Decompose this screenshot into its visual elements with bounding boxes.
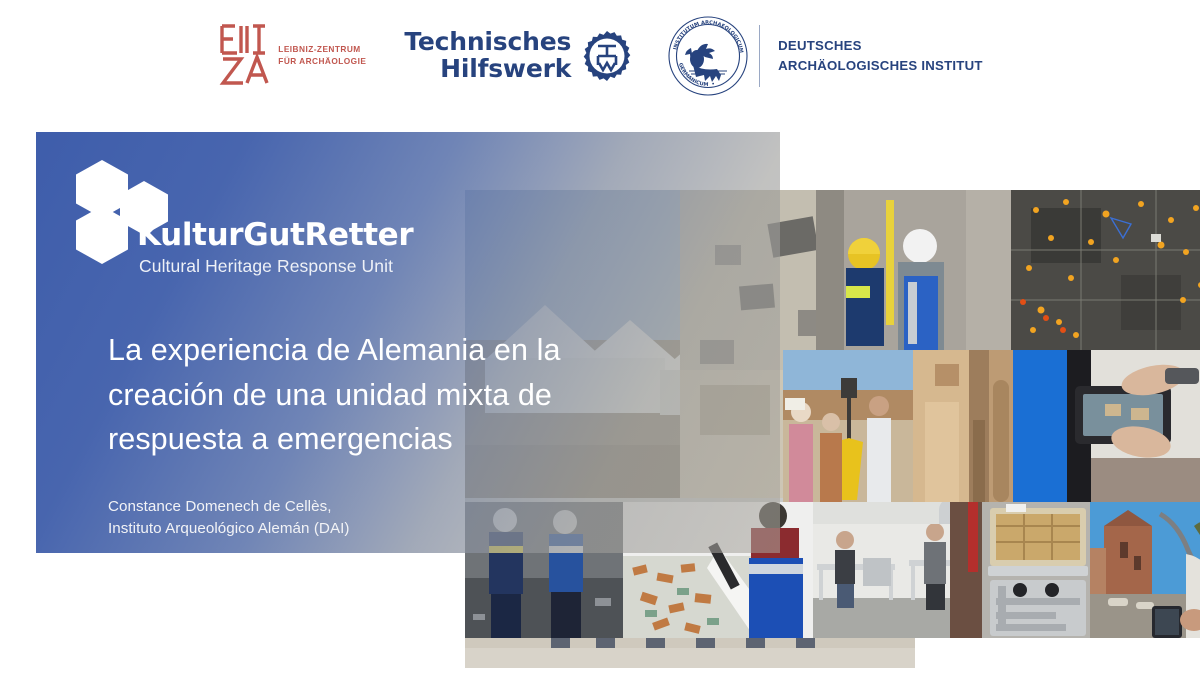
partner-logo-bar: LEIBNIZ-ZENTRUM FÜR ARCHÄOLOGIE Technisc… (0, 0, 1200, 112)
slide-byline: Constance Domenech de Cellès, Instituto … (108, 496, 780, 540)
photo-aerial-rubble-mapping (1011, 190, 1200, 350)
thw-gear-icon (581, 30, 633, 82)
thw-wordmark: Technisches Hilfswerk (404, 29, 571, 83)
dai-line-1: DEUTSCHES (778, 36, 983, 56)
photo-damaged-church-survey (1090, 502, 1200, 638)
leiza-wordmark: LEIBNIZ-ZENTRUM FÜR ARCHÄOLOGIE (278, 44, 366, 68)
dai-line-2: ARCHÄOLOGISCHES INSTITUT (778, 56, 983, 76)
byline-author: Constance Domenech de Cellès, (108, 496, 780, 518)
kulturgutretter-logo: KulturGutRetter Cultural Heritage Respon… (72, 160, 412, 288)
dai-wordmark: DEUTSCHES ARCHÄOLOGISCHES INSTITUT (778, 36, 983, 76)
photo-transport-case-open (950, 502, 1095, 638)
leiza-line-2: FÜR ARCHÄOLOGIE (278, 56, 366, 68)
thw-line-1: Technisches (404, 29, 571, 56)
photo-thw-helmet-wall-survey (816, 190, 1011, 350)
photo-tablet-field-recording (1013, 350, 1200, 502)
thw-line-2: Hilfswerk (404, 56, 571, 83)
photo-mudbrick-architecture (913, 350, 1013, 502)
slide-title: La experiencia de Alemania en la creació… (108, 328, 678, 462)
dai-logo: INSTITUTUM ARCHAEOLOGICUM GERMANICUM • D… (667, 15, 983, 97)
leiza-logo: LEIBNIZ-ZENTRUM FÜR ARCHÄOLOGIE (217, 23, 366, 89)
dai-divider (759, 25, 760, 87)
brand-tagline: Cultural Heritage Response Unit (139, 256, 393, 277)
dai-seal-icon: INSTITUTUM ARCHAEOLOGICUM GERMANICUM • (667, 15, 749, 97)
leiza-monogram-icon (217, 23, 269, 89)
brand-name: KulturGutRetter (137, 217, 413, 253)
title-panel: KulturGutRetter Cultural Heritage Respon… (36, 132, 780, 553)
photo-total-station-training (783, 350, 913, 502)
leiza-line-1: LEIBNIZ-ZENTRUM (278, 44, 366, 56)
thw-logo: Technisches Hilfswerk (404, 29, 633, 83)
byline-affiliation: Instituto Arqueológico Alemán (DAI) (108, 518, 780, 540)
